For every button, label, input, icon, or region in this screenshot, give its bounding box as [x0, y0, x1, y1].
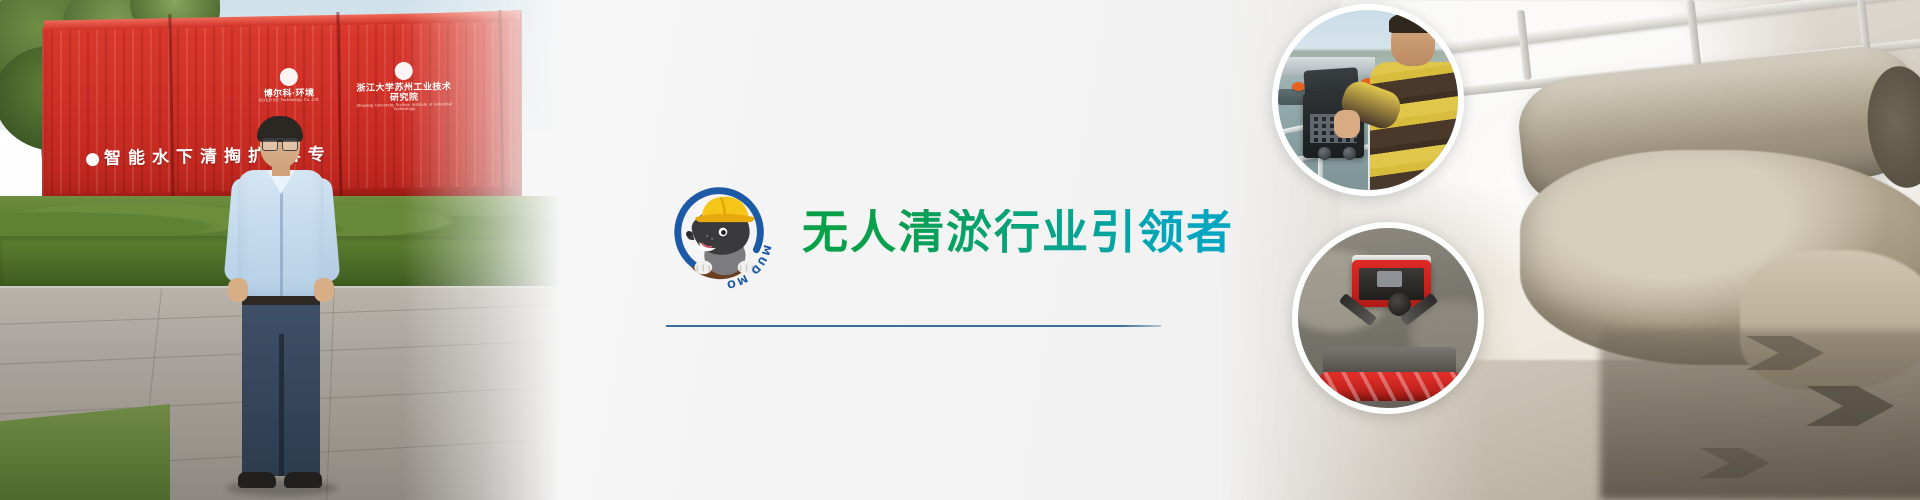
shoe-right: [284, 472, 322, 488]
person-engineer: [222, 120, 342, 500]
container-brand-logo-2: 浙江大学苏州工业技术研究院 Zhejiang University Suzhou…: [352, 61, 457, 113]
belt: [242, 296, 320, 305]
mud-mole-logo: MUD MOLE: [662, 173, 780, 291]
c1-hair: [1389, 12, 1439, 33]
hand-left: [228, 278, 248, 302]
center-content: MUD MOLE 无人清淤行业引领者: [640, 0, 1240, 500]
circle-photo-dredge-robot: [1292, 222, 1484, 414]
shirt-placket: [280, 176, 283, 296]
title-divider: [666, 325, 1161, 327]
circle-photo-operator: [1272, 4, 1464, 196]
shoe-left: [238, 472, 276, 488]
trouser-split: [279, 334, 284, 476]
c2-auger-screw: [1320, 372, 1460, 401]
c1-joystick: [1318, 147, 1331, 160]
c1-hand: [1334, 110, 1360, 138]
slogan-bullet-icon: [86, 153, 99, 166]
institute-mark-icon: [395, 62, 413, 80]
container-brand-logo-2-cn: 浙江大学苏州工业技术研究院: [352, 81, 456, 103]
c1-operator: [1364, 17, 1464, 190]
hero-row: MUD MOLE 无人清淤行业引领者: [662, 173, 1234, 291]
container-brand-logo-1: 博尔科·环境 BO'ER KE Technology Co.,Ltd.: [246, 67, 333, 103]
brand-mark-icon: [280, 68, 298, 86]
container-brand-logo-2-en: Zhejiang University Suzhou Institute of …: [352, 102, 456, 113]
page-title: 无人清淤行业引领者: [802, 209, 1234, 255]
hero-banner: 博尔科·环境 BO'ER KE Technology Co.,Ltd. 浙江大学…: [0, 0, 1920, 500]
left-photo: 博尔科·环境 BO'ER KE Technology Co.,Ltd. 浙江大学…: [0, 0, 560, 500]
hand-right: [314, 278, 334, 302]
c2-robot-panel: [1377, 271, 1402, 287]
c1-joystick: [1343, 147, 1356, 160]
glasses-icon: [262, 138, 298, 147]
